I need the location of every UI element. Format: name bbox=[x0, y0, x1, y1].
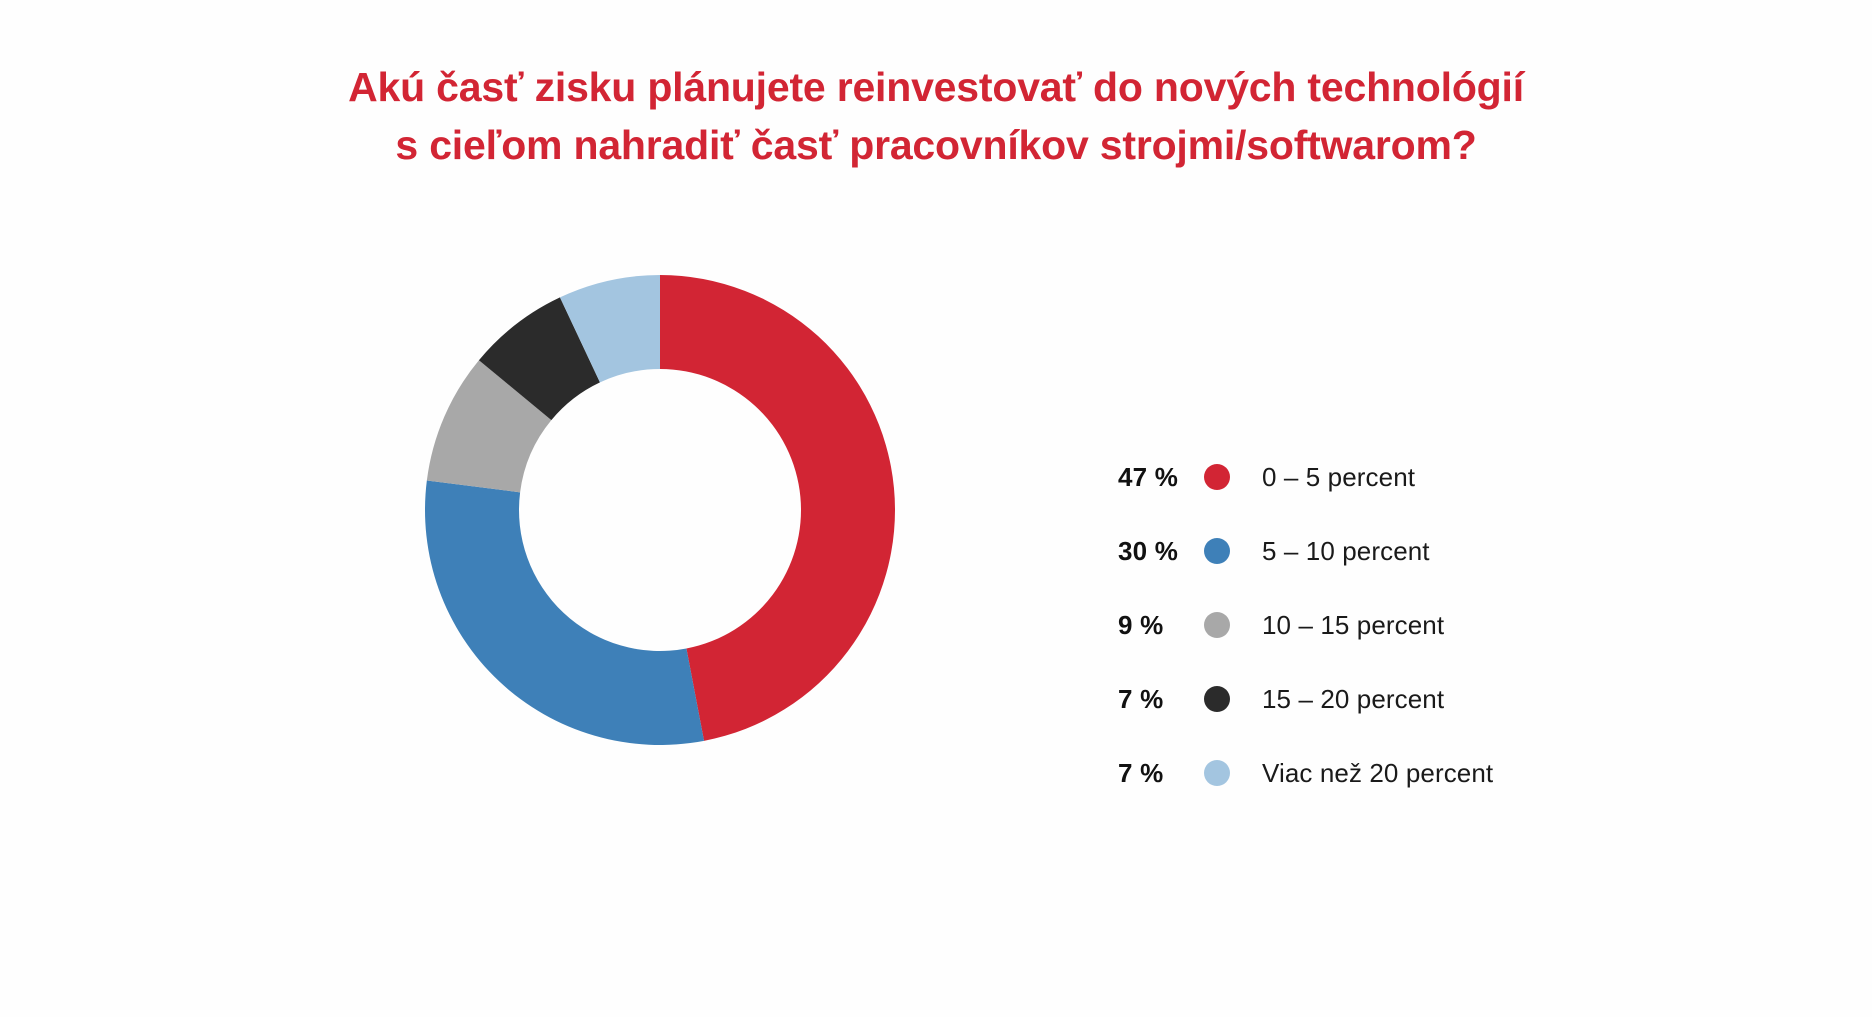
legend-item-value: 47 % bbox=[1118, 462, 1204, 493]
legend-color-swatch-icon bbox=[1204, 612, 1230, 638]
legend-color-swatch-icon bbox=[1204, 686, 1230, 712]
legend-item[interactable]: 7 %Viac než 20 percent bbox=[1118, 736, 1678, 810]
donut-chart bbox=[425, 275, 895, 745]
legend-item-label: Viac než 20 percent bbox=[1262, 758, 1493, 789]
chart-legend: 47 %0 – 5 percent30 %5 – 10 percent9 %10… bbox=[1118, 440, 1678, 810]
legend-item-label: 0 – 5 percent bbox=[1262, 462, 1415, 493]
legend-item[interactable]: 47 %0 – 5 percent bbox=[1118, 440, 1678, 514]
legend-item[interactable]: 30 %5 – 10 percent bbox=[1118, 514, 1678, 588]
legend-item-value: 7 % bbox=[1118, 758, 1204, 789]
donut-slice[interactable] bbox=[425, 481, 704, 745]
legend-item[interactable]: 7 %15 – 20 percent bbox=[1118, 662, 1678, 736]
legend-item-label: 15 – 20 percent bbox=[1262, 684, 1444, 715]
legend-item-label: 5 – 10 percent bbox=[1262, 536, 1430, 567]
legend-item-value: 7 % bbox=[1118, 684, 1204, 715]
legend-item-value: 30 % bbox=[1118, 536, 1204, 567]
legend-item[interactable]: 9 %10 – 15 percent bbox=[1118, 588, 1678, 662]
title-line-1: Akú časť zisku plánujete reinvestovať do… bbox=[0, 58, 1872, 116]
legend-color-swatch-icon bbox=[1204, 538, 1230, 564]
legend-item-label: 10 – 15 percent bbox=[1262, 610, 1444, 641]
legend-color-swatch-icon bbox=[1204, 464, 1230, 490]
donut-chart-svg bbox=[425, 275, 895, 745]
page-title: Akú časť zisku plánujete reinvestovať do… bbox=[0, 58, 1872, 174]
legend-item-value: 9 % bbox=[1118, 610, 1204, 641]
title-line-2: s cieľom nahradiť časť pracovníkov stroj… bbox=[0, 116, 1872, 174]
donut-slice-group bbox=[425, 275, 895, 745]
legend-color-swatch-icon bbox=[1204, 760, 1230, 786]
donut-slice[interactable] bbox=[660, 275, 895, 741]
